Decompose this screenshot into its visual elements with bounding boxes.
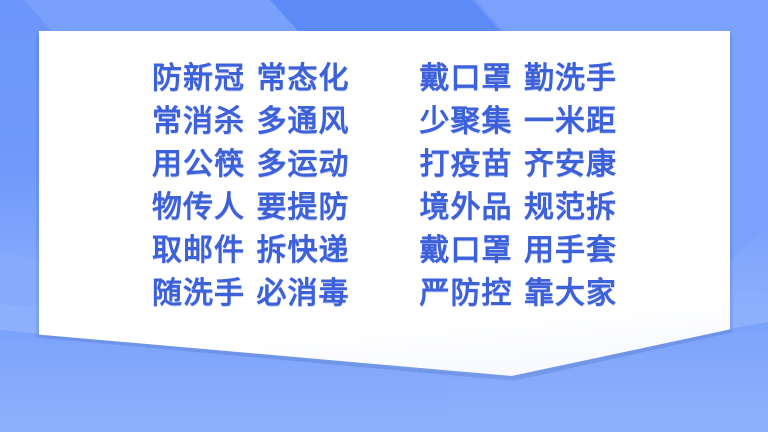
slogan-column-left: 防新冠 常态化 常消杀 多通风 用公筷 多运动 物传人 要提防 取邮件 拆快递 …: [152, 59, 349, 314]
slogan-line: 物传人 要提防: [152, 188, 349, 228]
slogan-line: 少聚集 一米距: [420, 102, 617, 142]
slogan-line: 随洗手 必消毒: [152, 274, 349, 314]
slogan-line: 戴口罩 勤洗手: [420, 59, 617, 99]
slogan-line: 用公筷 多运动: [152, 145, 349, 185]
slogan-column-right: 戴口罩 勤洗手 少聚集 一米距 打疫苗 齐安康 境外品 规范拆 戴口罩 用手套 …: [420, 59, 617, 314]
slogan-line: 戴口罩 用手套: [420, 231, 617, 271]
slogan-line: 常消杀 多通风: [152, 102, 349, 142]
slogan-line: 境外品 规范拆: [420, 188, 617, 228]
slogan-columns: 防新冠 常态化 常消杀 多通风 用公筷 多运动 物传人 要提防 取邮件 拆快递 …: [152, 59, 617, 314]
slogan-line: 防新冠 常态化: [152, 59, 349, 99]
slogan-line: 严防控 靠大家: [420, 274, 617, 314]
slogan-area: 防新冠 常态化 常消杀 多通风 用公筷 多运动 物传人 要提防 取邮件 拆快递 …: [39, 31, 730, 341]
slogan-line: 取邮件 拆快递: [152, 231, 349, 271]
slogan-line: 打疫苗 齐安康: [420, 145, 617, 185]
poster-canvas: 防新冠 常态化 常消杀 多通风 用公筷 多运动 物传人 要提防 取邮件 拆快递 …: [0, 0, 768, 432]
